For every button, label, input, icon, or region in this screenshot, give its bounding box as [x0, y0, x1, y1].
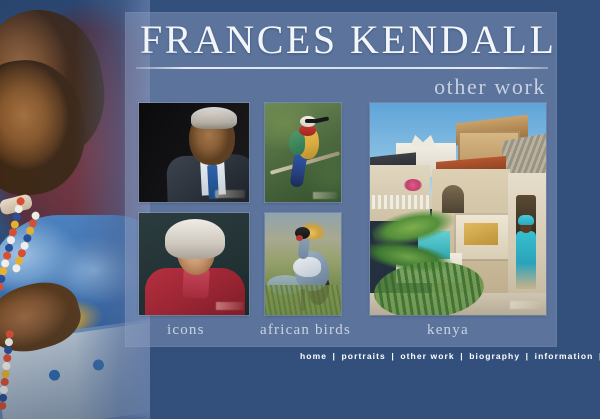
nav-separator: |	[524, 351, 531, 361]
page-root: FRANCES KENDALL other work	[0, 0, 600, 419]
artist-signature	[216, 302, 244, 310]
crane-red-wattle	[296, 235, 303, 241]
kenya-woman-headscarf	[518, 215, 534, 225]
birds-thumbnail-crowned-crane[interactable]	[265, 213, 341, 315]
artist-signature	[510, 301, 540, 309]
nav-link-home[interactable]: home	[300, 351, 327, 361]
icons-thumbnail-lady[interactable]	[139, 213, 249, 315]
birds-thumbnail-bee-eater[interactable]	[265, 103, 341, 202]
nav-separator: |	[389, 351, 396, 361]
title-underline-rule	[136, 67, 548, 69]
icons-thumbnail-mandela[interactable]	[139, 103, 249, 202]
kenya-thumbnail-swahili-house[interactable]	[370, 103, 546, 315]
lady-painting	[139, 213, 249, 315]
caption-kenya[interactable]: kenya	[427, 322, 469, 339]
nav-link-other-work[interactable]: other work	[400, 351, 454, 361]
bee-eater-painting	[265, 103, 341, 202]
nav-separator: |	[331, 351, 338, 361]
nav-link-portraits[interactable]: portraits	[342, 351, 386, 361]
kenya-bougainvillea	[404, 179, 422, 191]
lady-white-hair	[165, 219, 225, 259]
site-title: FRANCES KENDALL	[140, 18, 550, 62]
footer-navigation: home | portraits | other work | biograph…	[300, 351, 590, 365]
crane-grass	[265, 285, 341, 315]
mandela-hair	[191, 107, 237, 129]
crane-wing	[293, 257, 321, 277]
gallery-captions: icons african birds kenya	[139, 322, 551, 344]
caption-african-birds[interactable]: african birds	[260, 322, 351, 339]
crowned-crane-painting	[265, 213, 341, 315]
mandela-painting	[139, 103, 249, 202]
gallery-grid	[139, 103, 549, 315]
artist-signature	[215, 190, 245, 198]
nav-separator: |	[458, 351, 465, 361]
nav-link-information[interactable]: information	[535, 351, 594, 361]
section-title: other work	[434, 74, 546, 100]
artist-signature	[313, 192, 337, 199]
kenya-painting	[370, 103, 546, 315]
nav-link-biography[interactable]: biography	[469, 351, 520, 361]
kenya-furniture	[464, 223, 498, 245]
kenya-woman-dress	[516, 231, 536, 289]
caption-icons[interactable]: icons	[167, 322, 205, 339]
